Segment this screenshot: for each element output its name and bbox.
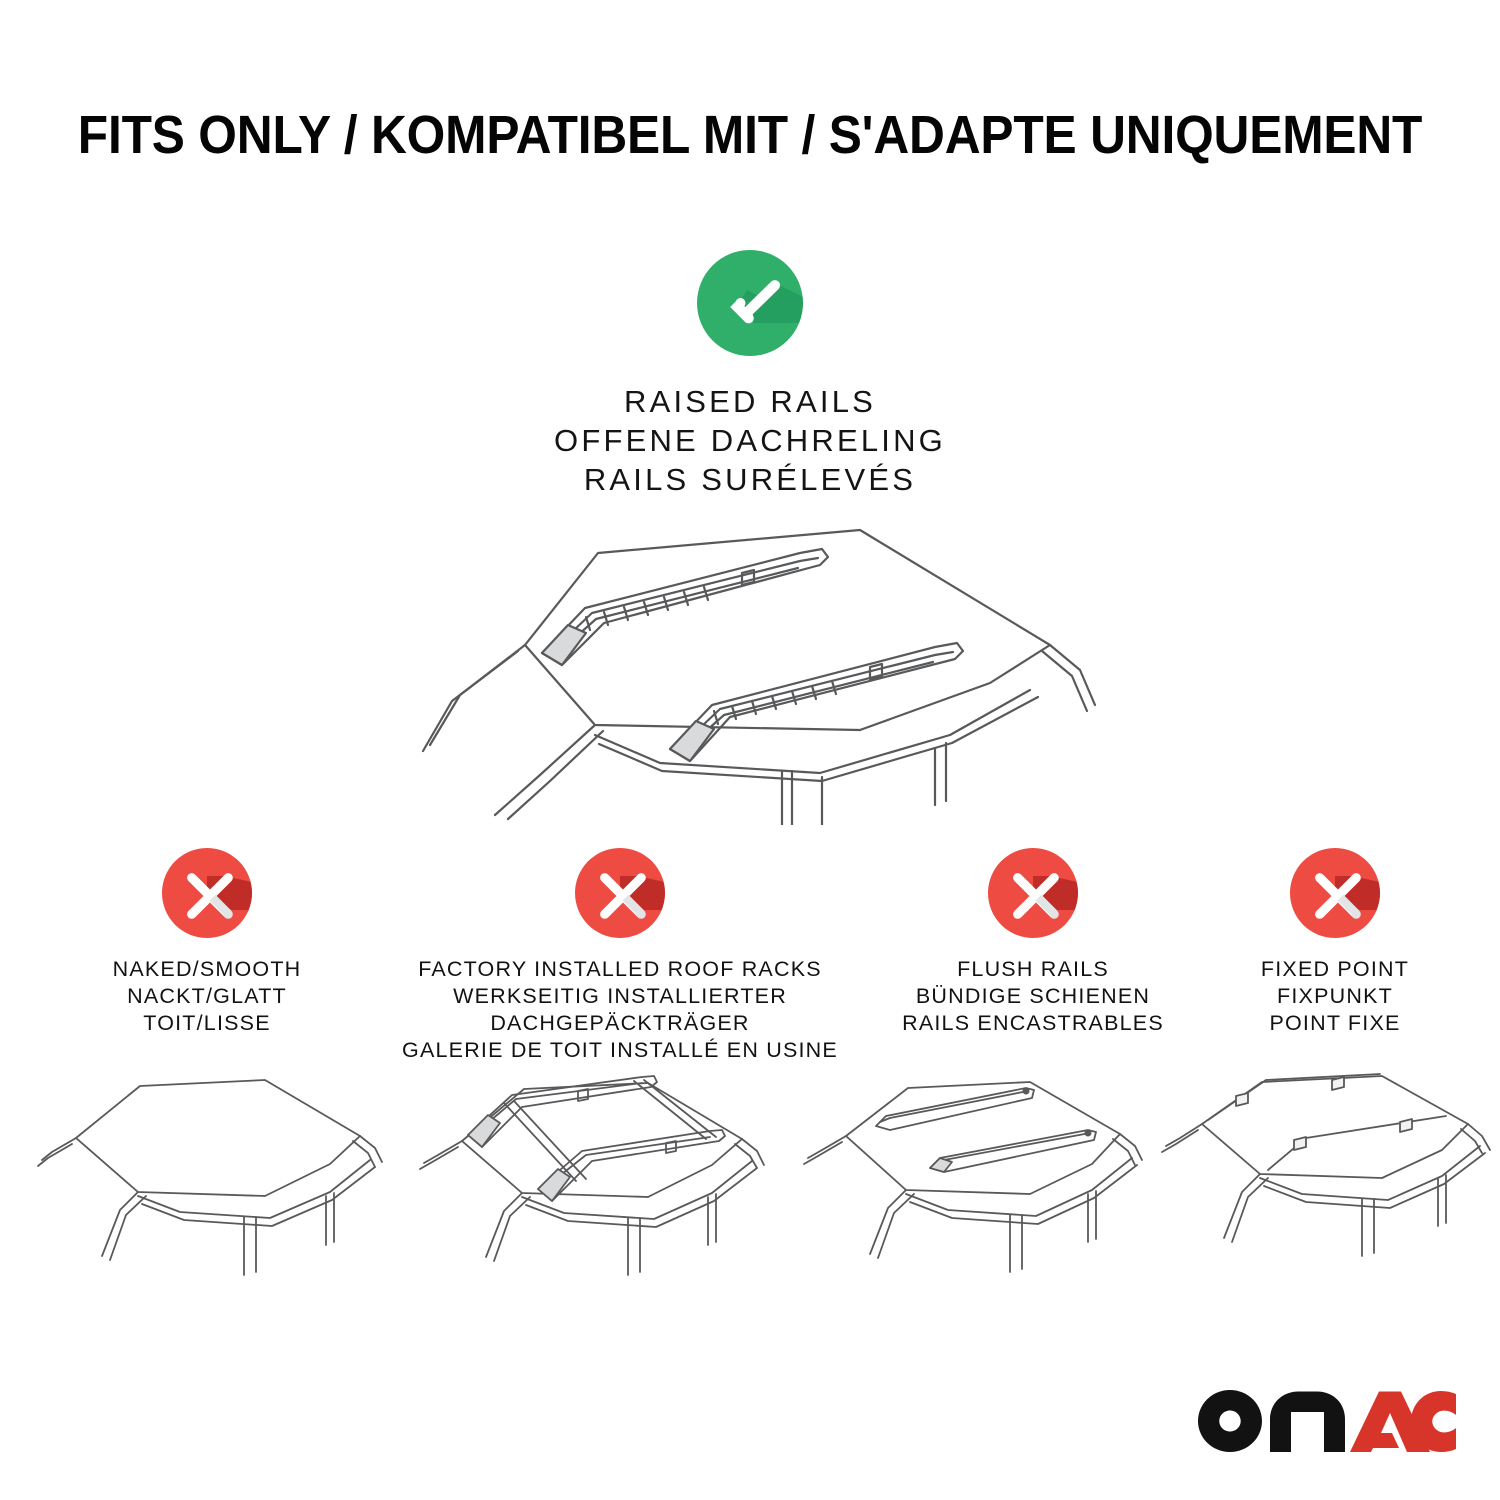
red-cross-circle-icon-2: [395, 848, 845, 938]
car-roof-flush-rails-diagram: [790, 1060, 1160, 1310]
label-line-2: NACKT/GLATT: [47, 983, 367, 1010]
car-roof-factory-roof-racks-diagram: [410, 1055, 780, 1310]
label-line-1: FIXED POINT: [1185, 956, 1485, 983]
red-cross-circle-icon-1: [47, 848, 367, 938]
label-line-3: RAILS ENCASTRABLES: [858, 1010, 1208, 1037]
green-check-circle-icon: [697, 250, 803, 356]
compatible-label-de: OFFENE DACHRELING: [0, 421, 1500, 460]
label-line-1: NAKED/SMOOTH: [47, 956, 367, 983]
label-line-1: FACTORY INSTALLED ROOF RACKS: [395, 956, 845, 983]
car-roof-naked-smooth-diagram: [30, 1060, 400, 1310]
cross-glyph: [988, 848, 1078, 938]
red-cross-circle-icon-4: [1185, 848, 1485, 938]
compatible-labels: RAISED RAILS OFFENE DACHRELING RAILS SUR…: [0, 382, 1500, 499]
cross-glyph: [162, 848, 252, 938]
incompatible-column-naked-smooth: NAKED/SMOOTH NACKT/GLATT TOIT/LISSE: [47, 848, 367, 1037]
label-line-3: POINT FIXE: [1185, 1010, 1485, 1037]
red-cross-circle-icon-3: [858, 848, 1208, 938]
page-title: FITS ONLY / KOMPATIBEL MIT / S'ADAPTE UN…: [60, 104, 1440, 166]
cross-glyph: [575, 848, 665, 938]
car-roof-raised-rails-diagram: [390, 505, 1110, 825]
label-line-1: FLUSH RAILS: [858, 956, 1208, 983]
label-line-2: WERKSEITIG INSTALLIERTER: [395, 983, 845, 1010]
omac-logo: [1198, 1390, 1456, 1452]
label-line-3: DACHGEPÄCKTRÄGER: [395, 1010, 845, 1037]
car-roof-fixed-point-diagram: [1150, 1060, 1500, 1310]
incompatible-column-flush-rails: FLUSH RAILS BÜNDIGE SCHIENEN RAILS ENCAS…: [858, 848, 1208, 1037]
compatible-label-fr: RAILS SURÉLEVÉS: [0, 460, 1500, 499]
fitment-infographic: FITS ONLY / KOMPATIBEL MIT / S'ADAPTE UN…: [0, 0, 1500, 1500]
label-line-3: TOIT/LISSE: [47, 1010, 367, 1037]
incompatible-column-fixed-point: FIXED POINT FIXPUNKT POINT FIXE: [1185, 848, 1485, 1037]
incompatible-column-factory-roof-racks: FACTORY INSTALLED ROOF RACKS WERKSEITIG …: [395, 848, 845, 1064]
compatible-section: RAISED RAILS OFFENE DACHRELING RAILS SUR…: [0, 250, 1500, 499]
label-line-2: FIXPUNKT: [1185, 983, 1485, 1010]
compatible-label-en: RAISED RAILS: [0, 382, 1500, 421]
cross-glyph: [1290, 848, 1380, 938]
label-line-2: BÜNDIGE SCHIENEN: [858, 983, 1208, 1010]
check-glyph: [697, 250, 803, 356]
